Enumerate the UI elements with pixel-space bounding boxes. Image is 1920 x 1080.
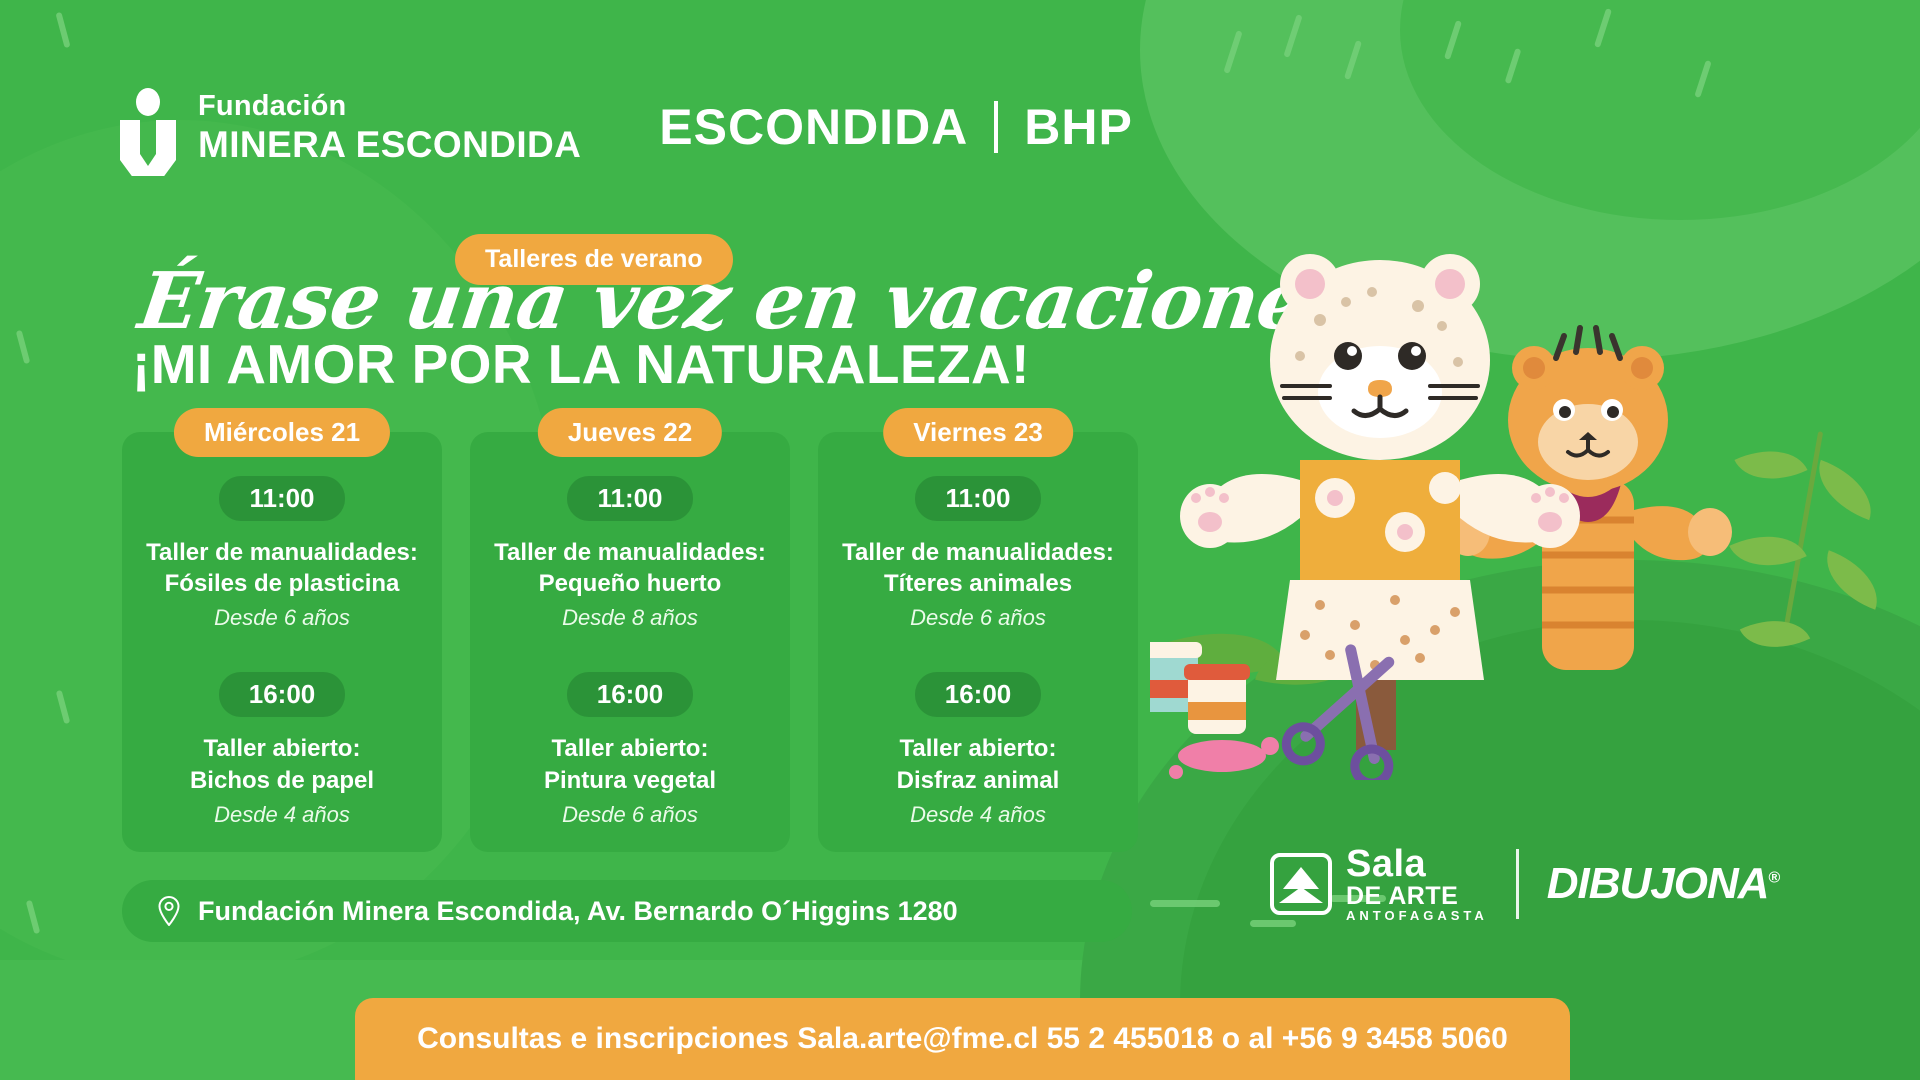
session-title-line1: Taller de manualidades:: [136, 537, 428, 568]
address-bar: Fundación Minera Escondida, Av. Bernardo…: [122, 880, 1132, 942]
antofagasta-word: ANTOFAGASTA: [1346, 909, 1488, 922]
day-label: Jueves 22: [538, 408, 722, 457]
session-age: Desde 6 años: [910, 605, 1046, 631]
contact-bar[interactable]: Consultas e inscripciones Sala.arte@fme.…: [355, 998, 1570, 1080]
session-title-line1: Taller de manualidades:: [484, 537, 776, 568]
headline-bold: ¡MI AMOR POR LA NATURALEZA!: [132, 332, 1030, 396]
session-title-line1: Taller de manualidades:: [832, 537, 1124, 568]
escondida-wordmark: ESCONDIDA: [659, 98, 968, 156]
session-divider: [524, 651, 736, 654]
logo-divider: [1516, 849, 1519, 919]
partner-logos: Sala DE ARTE ANTOFAGASTA DIBUJONA®: [1270, 845, 1779, 923]
mountain-icon: [1270, 853, 1332, 915]
session-age: Desde 6 años: [214, 605, 350, 631]
session-time: 11:00: [915, 476, 1040, 521]
day-card[interactable]: Jueves 22 11:00 Taller de manualidades: …: [470, 432, 790, 852]
session-divider: [176, 651, 388, 654]
sala-de-arte-logo: Sala DE ARTE ANTOFAGASTA: [1270, 845, 1488, 923]
session-title-line2: Fósiles de plasticina: [155, 568, 410, 599]
puppet-illustration: [1150, 180, 1790, 780]
session-age: Desde 8 años: [562, 605, 698, 631]
bhp-wordmark: BHP: [1024, 98, 1133, 156]
session-time: 16:00: [915, 672, 1042, 717]
de-arte-word: DE ARTE: [1346, 884, 1488, 910]
fundacion-minera-escondida-logo: Fundación MINERA ESCONDIDA: [120, 88, 581, 166]
session-title-line2: Pequeño huerto: [529, 568, 732, 599]
day-card[interactable]: Viernes 23 11:00 Taller de manualidades:…: [818, 432, 1138, 852]
session-time: 16:00: [567, 672, 694, 717]
session-title-line2: Títeres animales: [874, 568, 1082, 599]
day-card[interactable]: Miércoles 21 11:00 Taller de manualidade…: [122, 432, 442, 852]
session-age: Desde 4 años: [910, 802, 1046, 828]
session-time: 11:00: [567, 476, 692, 521]
paint-splat: [1261, 737, 1279, 755]
session-title-line1: Taller abierto:: [194, 733, 371, 764]
doodle-dash: [1150, 900, 1220, 907]
foundation-word: Fundación: [198, 92, 581, 121]
session-title-line2: Pintura vegetal: [534, 765, 726, 796]
foundation-name: MINERA ESCONDIDA: [198, 126, 581, 163]
session-age: Desde 4 años: [214, 802, 350, 828]
session-title-line1: Taller abierto:: [542, 733, 719, 764]
session-time: 16:00: [219, 672, 346, 717]
paint-splat: [1169, 765, 1183, 779]
paint-splat: [1178, 740, 1266, 772]
fme-shield-icon: [120, 88, 176, 166]
session-divider: [872, 651, 1084, 654]
session-title-line2: Bichos de papel: [180, 765, 384, 796]
registered-mark: ®: [1769, 869, 1780, 886]
dibujona-word: DIBUJONA: [1547, 859, 1769, 908]
session-age: Desde 6 años: [562, 802, 698, 828]
session-title-line1: Taller abierto:: [890, 733, 1067, 764]
contact-text: Consultas e inscripciones Sala.arte@fme.…: [417, 1022, 1508, 1056]
day-label: Viernes 23: [883, 408, 1073, 457]
paint-pots-icon: [1150, 642, 1250, 734]
session-title-line2: Disfraz animal: [887, 765, 1070, 796]
dibujona-logo: DIBUJONA®: [1547, 859, 1780, 909]
schedule-cards: Miércoles 21 11:00 Taller de manualidade…: [122, 432, 1138, 852]
header-logos: Fundación MINERA ESCONDIDA ESCONDIDA BHP: [120, 88, 1133, 166]
escondida-bhp-logo: ESCONDIDA BHP: [659, 98, 1133, 156]
sala-word: Sala: [1346, 845, 1488, 884]
logo-divider: [994, 101, 998, 153]
day-label: Miércoles 21: [174, 408, 390, 457]
session-time: 11:00: [219, 476, 344, 521]
address-text: Fundación Minera Escondida, Av. Bernardo…: [198, 896, 958, 927]
location-pin-icon: [156, 896, 182, 926]
